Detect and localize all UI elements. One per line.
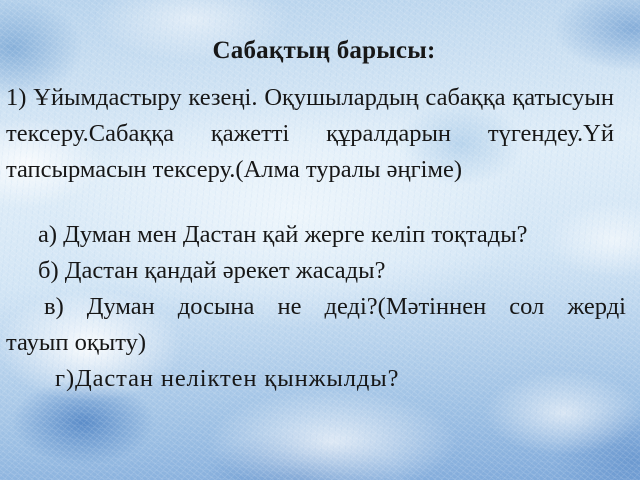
question-item-g: г)Дастан неліктен қынжылды? — [55, 361, 399, 397]
lesson-stage-paragraph: 1) Ұйымдастыру кезеңі. Оқушылардың сабақ… — [6, 80, 614, 188]
question-item-b: б) Дастан қандай әрекет жасады? — [38, 253, 385, 289]
slide-canvas: Сабақтың барысы: 1) Ұйымдастыру кезеңі. … — [0, 0, 640, 480]
slide-content: Сабақтың барысы: 1) Ұйымдастыру кезеңі. … — [0, 0, 640, 480]
question-item-v-line-1: в) Думан досына не деді?(Мәтіннен сол же… — [44, 289, 626, 325]
question-item-a: а) Думан мен Дастан қай жерге келіп тоқт… — [38, 217, 528, 253]
slide-title: Сабақтың барысы: — [0, 36, 640, 66]
question-item-v-line-2: тауып оқыту) — [6, 325, 626, 361]
question-item-v: в) Думан досына не деді?(Мәтіннен сол же… — [44, 289, 626, 361]
